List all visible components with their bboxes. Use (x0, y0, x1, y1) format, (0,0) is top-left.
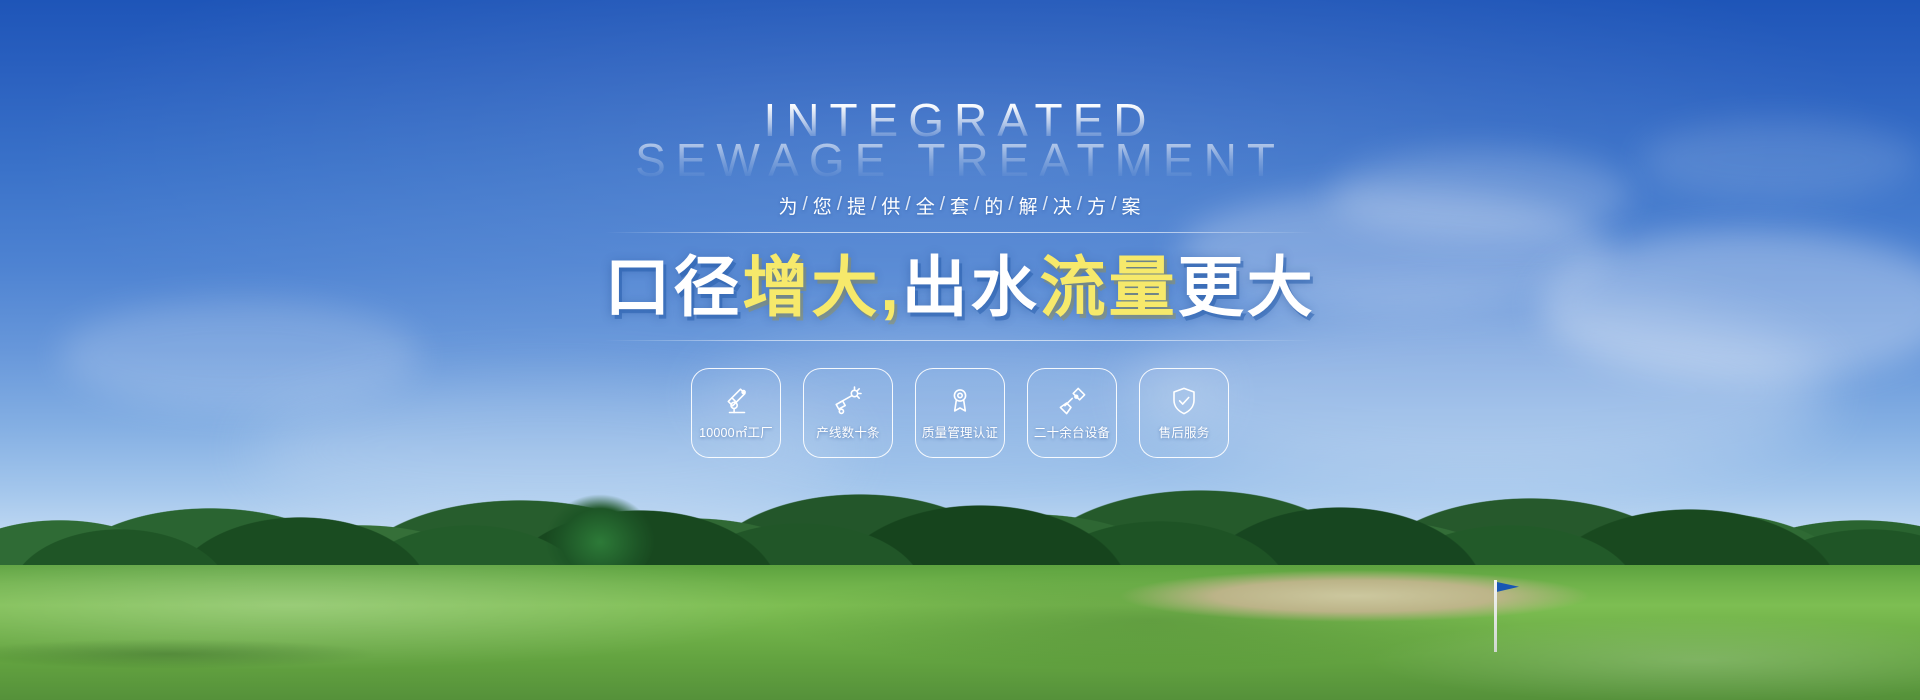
slogan-separator-icon: / (936, 194, 950, 216)
slogan-slash-line: 为/您/提/供/全/套/的/解/决/方/案 (779, 192, 1142, 219)
slogan-separator-icon: / (867, 194, 881, 216)
feature-badge-label: 10000㎡工厂 (699, 422, 773, 441)
english-headline: INTEGRATED SEWAGE TREATMENT (635, 98, 1285, 182)
hero-banner: INTEGRATED SEWAGE TREATMENT 为/您/提/供/全/套/… (0, 0, 1920, 700)
slogan-char: 决 (1053, 192, 1073, 219)
slogan-char: 为 (779, 192, 799, 219)
slogan-separator-icon: / (1073, 194, 1087, 216)
slogan-char: 的 (984, 192, 1004, 219)
feature-badge-list: 10000㎡工厂产线数十条质量管理认证二十余台设备售后服务 (691, 368, 1229, 458)
slogan-char: 套 (950, 192, 970, 219)
headline-segment: 出水 (902, 253, 1040, 322)
feature-badge-label: 质量管理认证 (922, 422, 998, 441)
slogan-char: 您 (813, 192, 833, 219)
slogan-char: 方 (1087, 192, 1107, 219)
feature-badge[interactable]: 产线数十条 (803, 368, 893, 458)
headline-segment: 口径 (604, 253, 742, 322)
headline-segment: 流量 (1040, 253, 1178, 322)
slogan-separator-icon: / (1004, 194, 1018, 216)
slogan-char: 供 (881, 192, 901, 219)
feature-badge-label: 产线数十条 (816, 422, 880, 441)
headline-segment: 更大 (1178, 253, 1316, 322)
slogan-char: 解 (1019, 192, 1039, 219)
production-line-icon (831, 384, 865, 418)
slogan-separator-icon: / (799, 194, 813, 216)
slogan-separator-icon: / (1039, 194, 1053, 216)
main-headline: 口径增大,出水流量更大 (604, 253, 1315, 322)
slogan-separator-icon: / (901, 194, 915, 216)
equipment-icon (1055, 384, 1089, 418)
certified-badge-icon (943, 384, 977, 418)
english-line-2: SEWAGE TREATMENT (635, 138, 1285, 182)
feature-badge[interactable]: 二十余台设备 (1027, 368, 1117, 458)
feature-badge[interactable]: 10000㎡工厂 (691, 368, 781, 458)
slogan-char: 全 (916, 192, 936, 219)
slogan-char: 提 (847, 192, 867, 219)
feature-badge[interactable]: 售后服务 (1139, 368, 1229, 458)
feature-badge-label: 二十余台设备 (1034, 422, 1110, 441)
slogan-separator-icon: / (970, 194, 984, 216)
headline-segment: , (880, 253, 901, 322)
feature-badge-label: 售后服务 (1159, 422, 1210, 441)
shield-service-icon (1167, 384, 1201, 418)
slogan-separator-icon: / (833, 194, 847, 216)
microscope-icon (719, 384, 753, 418)
banner-content: INTEGRATED SEWAGE TREATMENT 为/您/提/供/全/套/… (0, 0, 1920, 700)
divider-bottom (605, 340, 1315, 341)
slogan-separator-icon: / (1107, 194, 1121, 216)
feature-badge[interactable]: 质量管理认证 (915, 368, 1005, 458)
headline-segment: 增大 (742, 253, 880, 322)
divider-top (605, 232, 1315, 233)
slogan-char: 案 (1121, 192, 1141, 219)
